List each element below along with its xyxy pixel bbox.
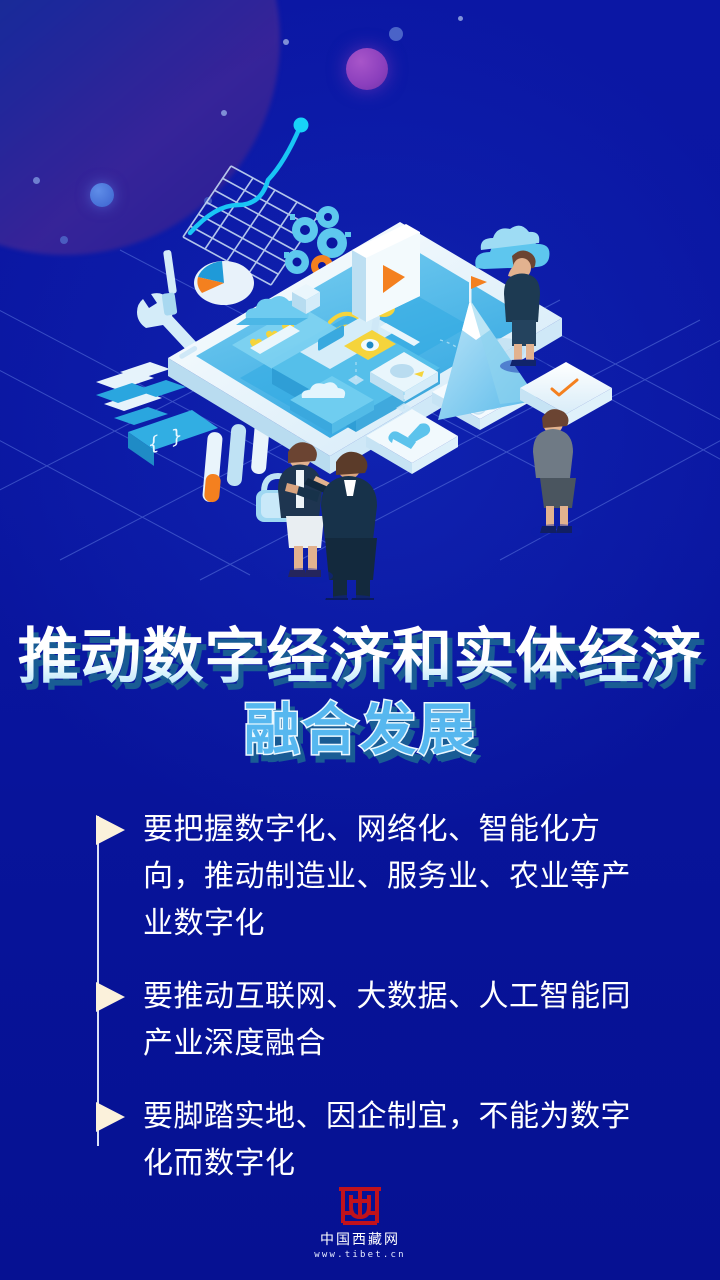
wrench-screwdriver-icon bbox=[137, 250, 198, 353]
bullet-text: 要脚踏实地、因企制宜，不能为数字化而数字化 bbox=[143, 1093, 653, 1187]
poster-title: 推动数字经济和实体经济 融合发展 bbox=[0, 620, 720, 766]
bullet-text: 要把握数字化、网络化、智能化方向，推动制造业、服务业、农业等产业数字化 bbox=[143, 806, 653, 947]
site-name: 中国西藏网 bbox=[0, 1232, 720, 1249]
china-tibet-net-seal-logo bbox=[333, 1183, 387, 1227]
poster-canvas: { } bbox=[0, 0, 720, 1280]
title-line-2: 融合发展 bbox=[0, 696, 720, 766]
title-line-1: 推动数字经济和实体经济 bbox=[0, 620, 720, 694]
bullet-list: 要把握数字化、网络化、智能化方向，推动制造业、服务业、农业等产业数字化 要推动互… bbox=[96, 806, 662, 1187]
businesswoman-standing bbox=[533, 409, 576, 533]
site-url: www.tibet.cn bbox=[0, 1249, 720, 1262]
list-item: 要推动互联网、大数据、人工智能同产业深度融合 bbox=[96, 973, 662, 1067]
list-item: 要把握数字化、网络化、智能化方向，推动制造业、服务业、农业等产业数字化 bbox=[96, 806, 662, 947]
list-item: 要脚踏实地、因企制宜，不能为数字化而数字化 bbox=[96, 1093, 662, 1187]
hero-illustration: { } bbox=[0, 0, 720, 600]
pie-chart-icon bbox=[194, 261, 254, 305]
triangle-right-icon bbox=[96, 1102, 125, 1132]
bullet-text: 要推动互联网、大数据、人工智能同产业深度融合 bbox=[143, 973, 653, 1067]
triangle-right-icon bbox=[96, 815, 125, 845]
cloud-icon bbox=[475, 226, 549, 269]
triangle-right-icon bbox=[96, 982, 125, 1012]
footer: 中国西藏网 www.tibet.cn bbox=[0, 1183, 720, 1262]
